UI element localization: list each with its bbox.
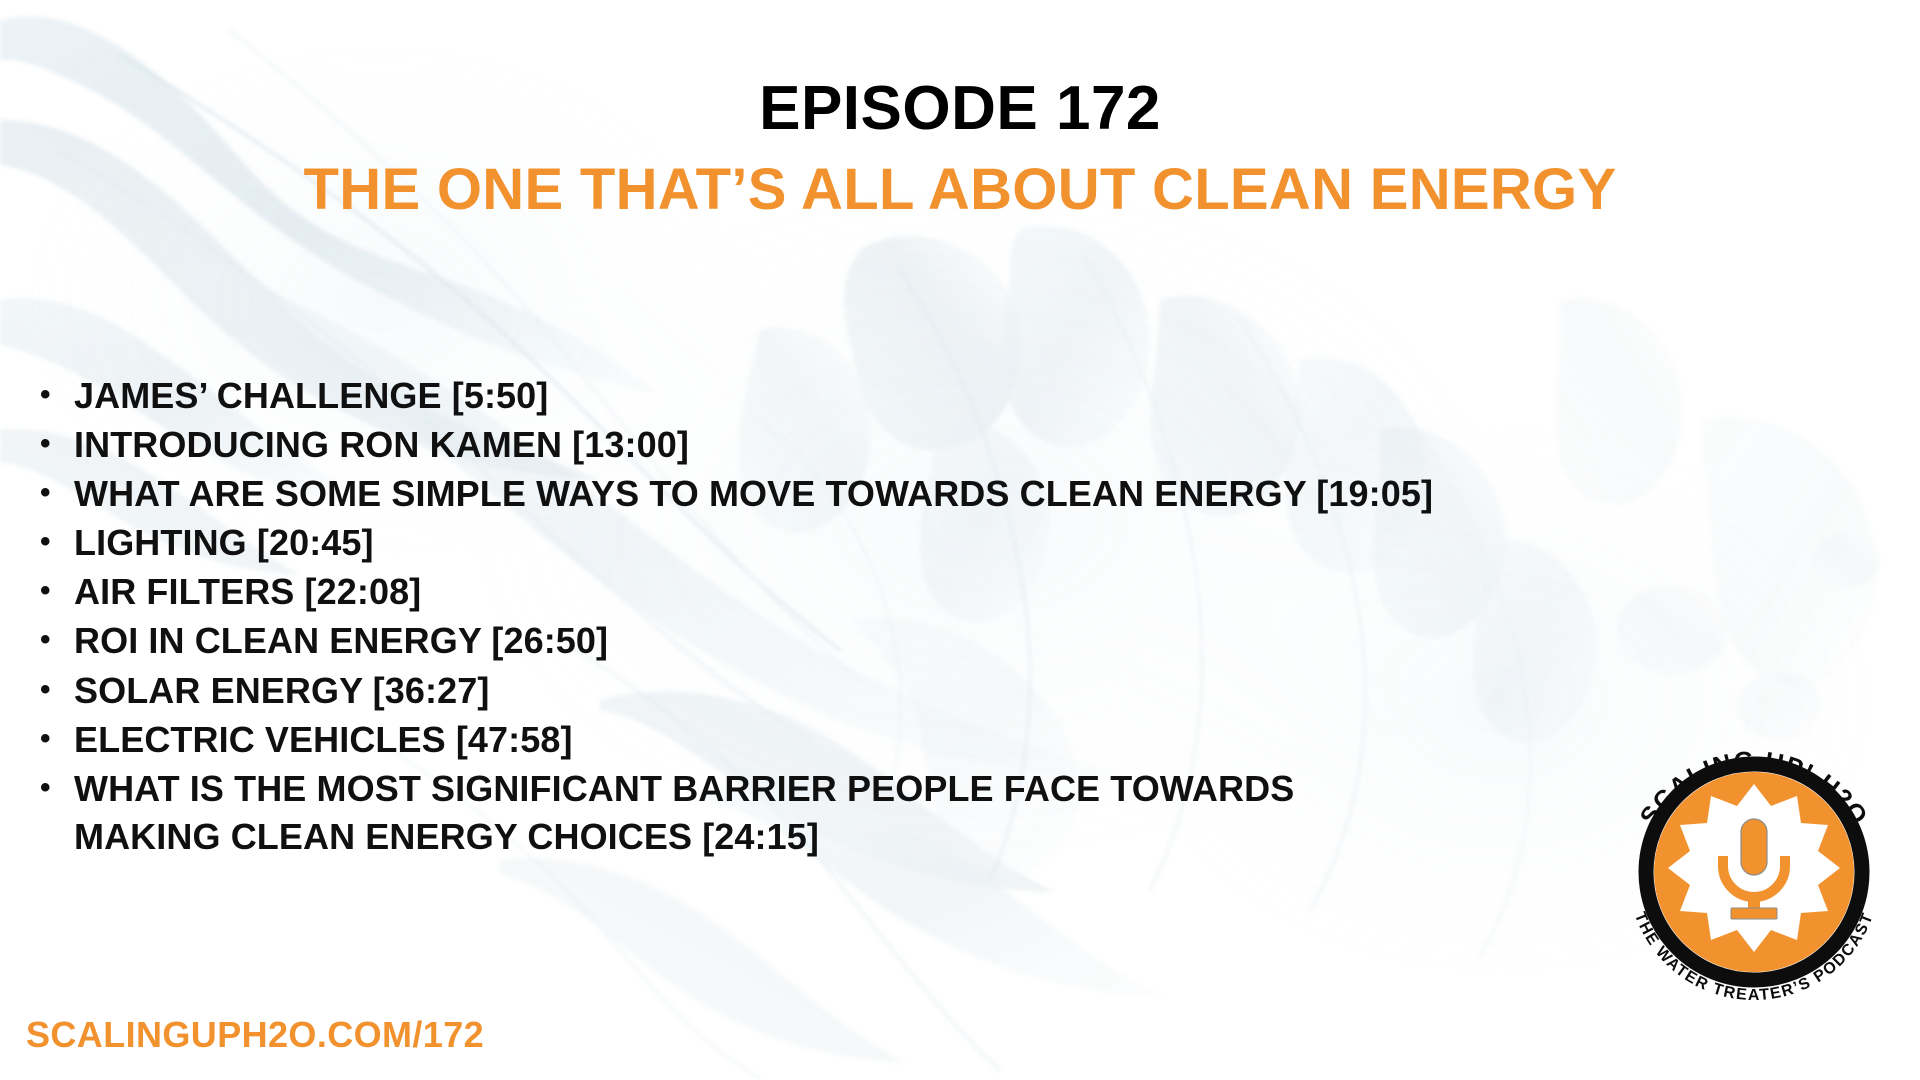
topic-label: WHAT IS THE MOST SIGNIFICANT BARRIER PEO… [74, 768, 1294, 858]
page-title: EPISODE 172 [0, 76, 1920, 141]
list-item: ELECTRIC VEHICLES [47:58] [74, 716, 1734, 765]
list-item: JAMES’ CHALLENGE [5:50] [74, 372, 1734, 421]
list-item: AIR FILTERS [22:08] [74, 568, 1734, 617]
list-item: WHAT IS THE MOST SIGNIFICANT BARRIER PEO… [74, 765, 1319, 862]
footer-url[interactable]: SCALINGUPH2O.COM/172 [26, 1014, 484, 1056]
topic-list: JAMES’ CHALLENGE [5:50] INTRODUCING RON … [28, 372, 1734, 862]
topic-label: WHAT ARE SOME SIMPLE WAYS TO MOVE TOWARD… [74, 473, 1433, 514]
topic-label: JAMES’ CHALLENGE [5:50] [74, 375, 548, 416]
list-item: SOLAR ENERGY [36:27] [74, 667, 1734, 716]
topic-label: ELECTRIC VEHICLES [47:58] [74, 719, 573, 760]
topic-label: SOLAR ENERGY [36:27] [74, 670, 489, 711]
episode-subtitle: THE ONE THAT’S ALL ABOUT CLEAN ENERGY [0, 160, 1920, 221]
scaling-up-h2o-podcast-logo: SCALING UP! H2O THE WATER TREATER’S PODC… [1604, 722, 1904, 1022]
list-item: ROI IN CLEAN ENERGY [26:50] [74, 617, 1734, 666]
topic-label: INTRODUCING RON KAMEN [13:00] [74, 424, 689, 465]
topic-label: LIGHTING [20:45] [74, 522, 374, 563]
topic-label: AIR FILTERS [22:08] [74, 571, 421, 612]
list-item: LIGHTING [20:45] [74, 519, 1734, 568]
topic-label: ROI IN CLEAN ENERGY [26:50] [74, 620, 608, 661]
list-item: INTRODUCING RON KAMEN [13:00] [74, 421, 1734, 470]
list-item: WHAT ARE SOME SIMPLE WAYS TO MOVE TOWARD… [74, 470, 1734, 519]
presentation-slide: EPISODE 172 THE ONE THAT’S ALL ABOUT CLE… [0, 0, 1920, 1080]
